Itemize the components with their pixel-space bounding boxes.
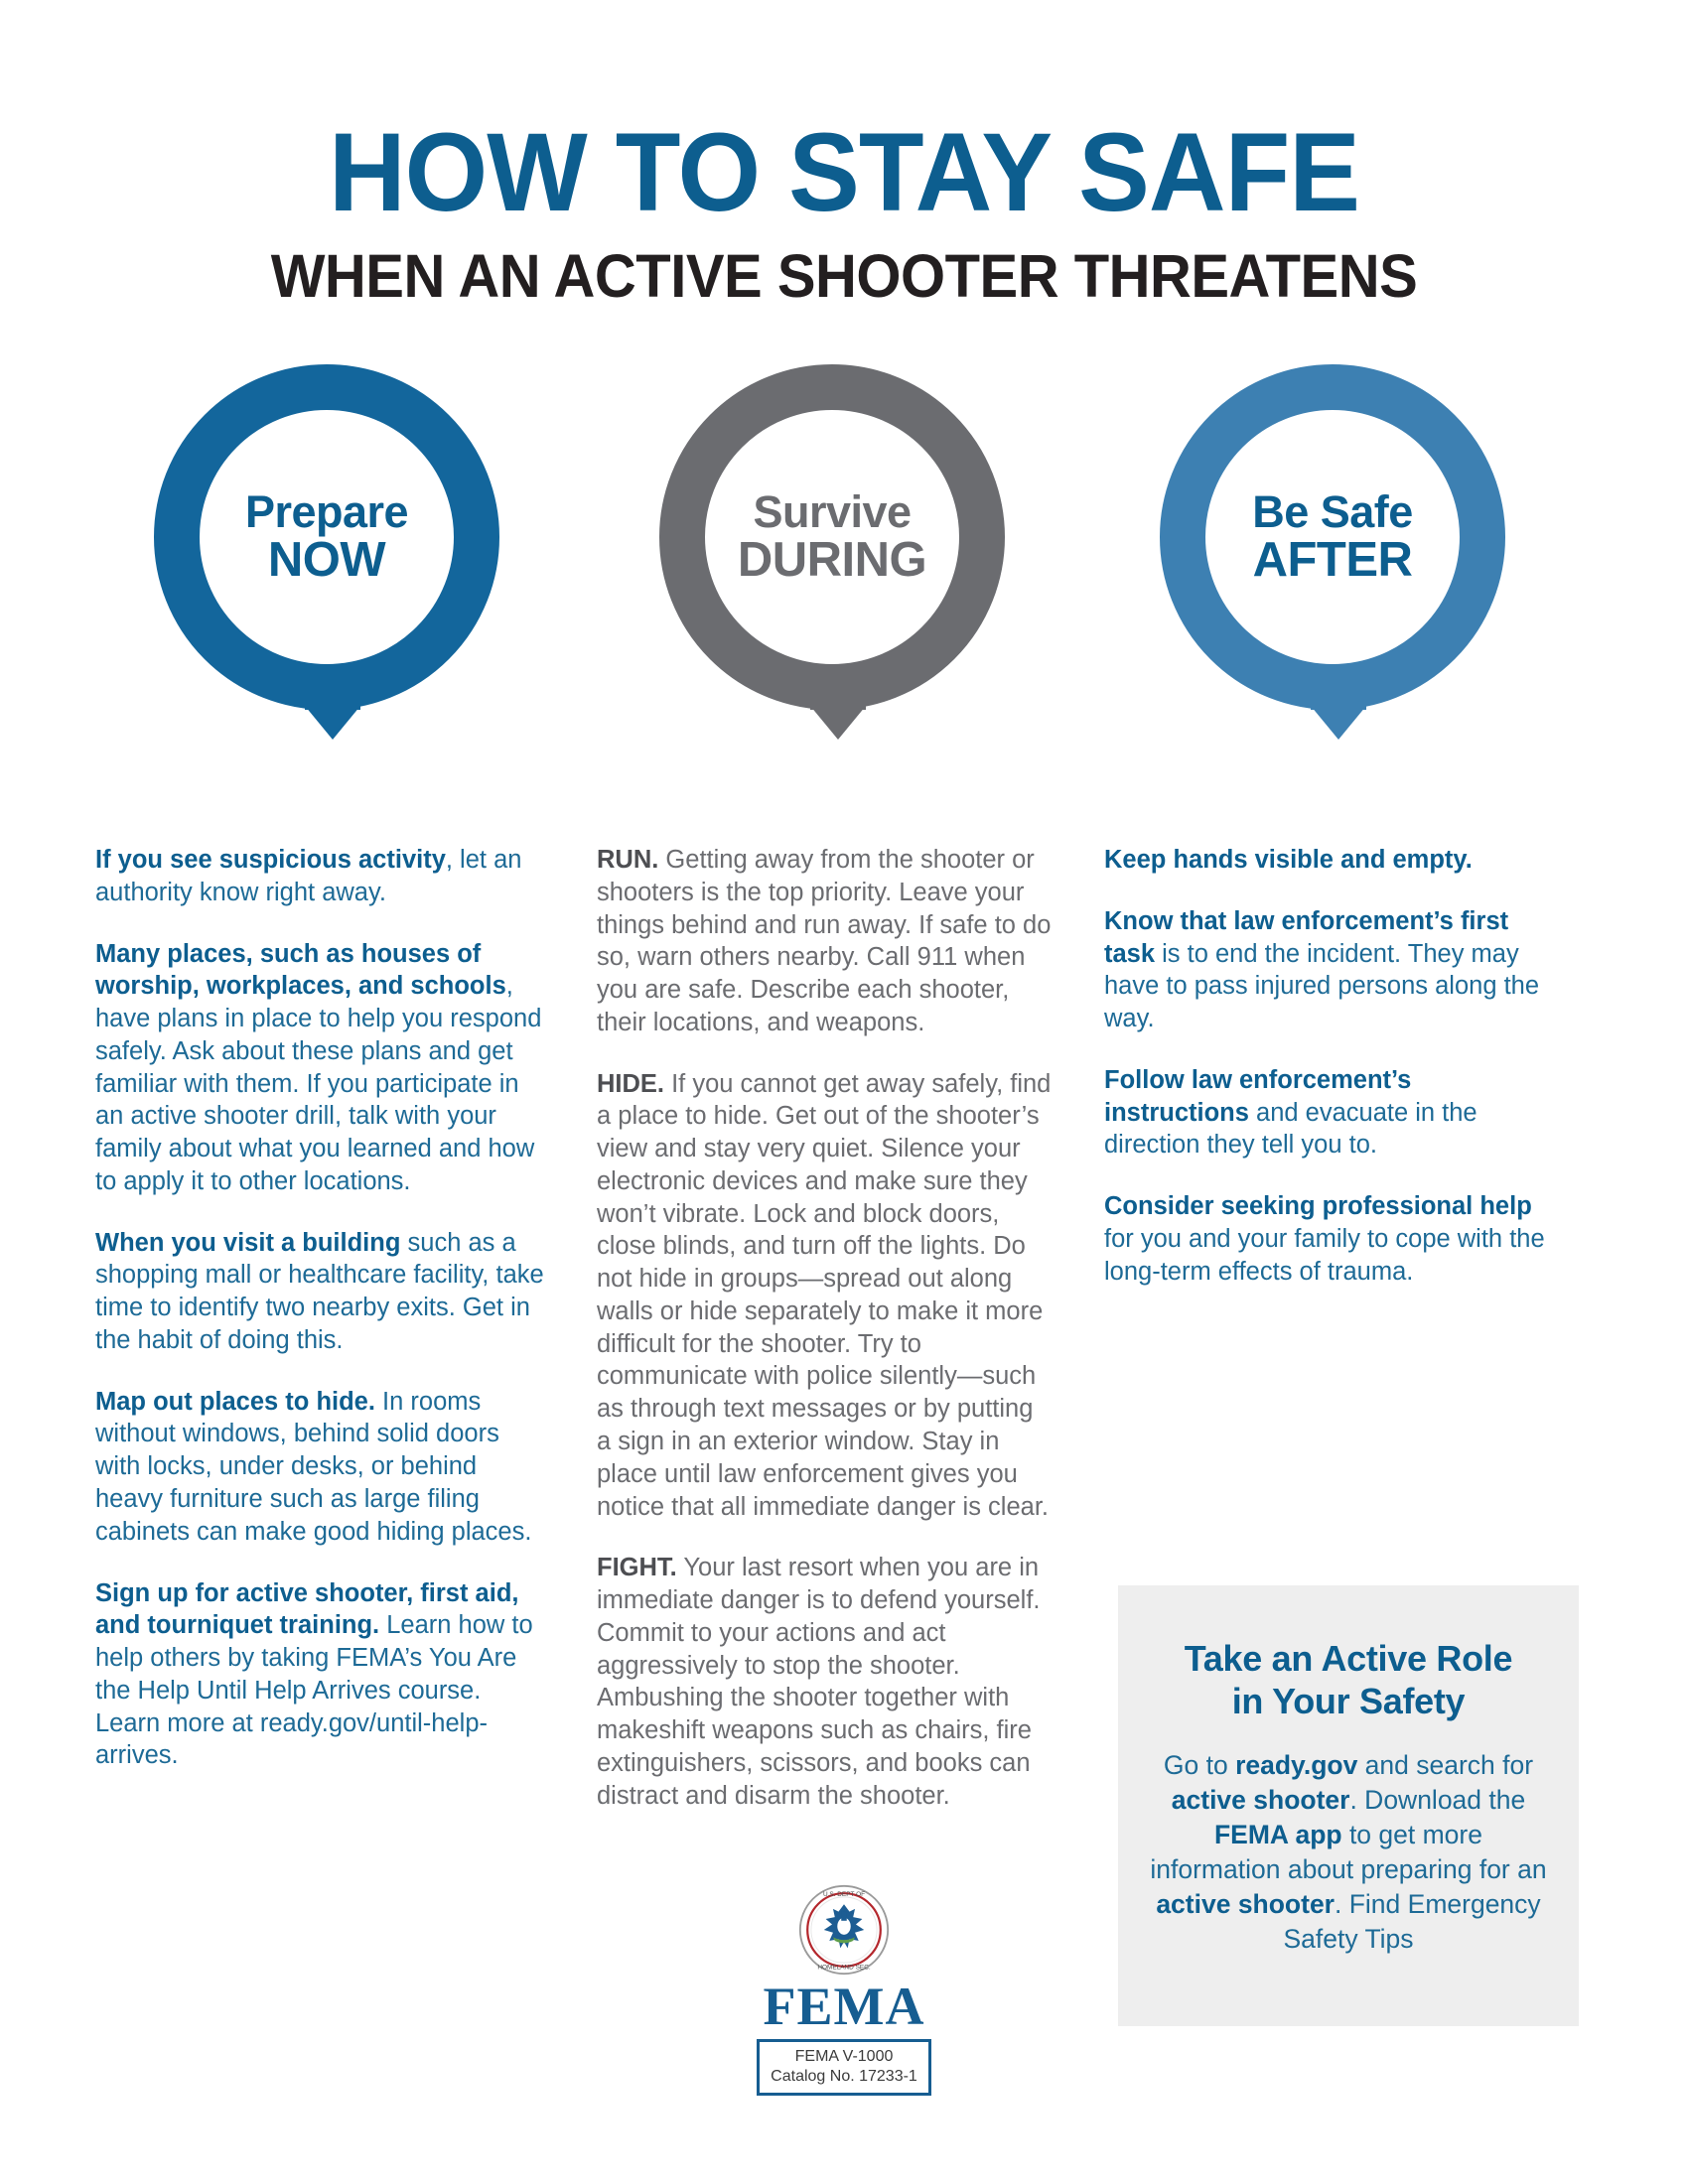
paragraph-lead: FIGHT. — [597, 1554, 677, 1581]
ring-label-be-safe-after: Be Safe AFTER — [1252, 489, 1413, 586]
arrow-down-icon-be-safe-after — [1311, 706, 1366, 740]
body-text: to get more information about preparing … — [1150, 1820, 1546, 1884]
paragraph-body: Your last resort when you are in immedia… — [597, 1554, 1041, 1809]
paragraph: RUN. Getting away from the shooter or sh… — [597, 844, 1054, 1039]
body-text: and search for — [1357, 1750, 1533, 1780]
paragraph: If you see suspicious activity, let an a… — [95, 844, 544, 909]
paragraph: When you visit a building such as a shop… — [95, 1227, 544, 1357]
callout-title-line2: in Your Safety — [1148, 1680, 1549, 1722]
paragraph-body: for you and your family to cope with the… — [1104, 1225, 1545, 1286]
paragraph-lead: RUN. — [597, 846, 658, 874]
paragraph-lead: Consider seeking professional help — [1104, 1192, 1532, 1220]
page-title: HOW TO STAY SAFE — [34, 117, 1654, 228]
paragraph: Map out places to hide. In rooms without… — [95, 1386, 544, 1549]
ring-survive-during: Survive DURING — [659, 364, 1005, 710]
callout-body: Go to ready.gov and search for active sh… — [1148, 1748, 1549, 1957]
paragraph: Follow law enforcement’s instructions an… — [1104, 1064, 1553, 1161]
body-text: . Download the — [1349, 1785, 1525, 1815]
paragraph-body: If you cannot get away safely, find a pl… — [597, 1070, 1051, 1521]
stage-circles: Prepare NOW Survive DURING Be Safe AFTER — [0, 364, 1688, 761]
svg-text:U.S. DEPT OF: U.S. DEPT OF — [823, 1891, 865, 1898]
paragraph-lead: When you visit a building — [95, 1229, 400, 1257]
svg-text:HOMELAND SEC.: HOMELAND SEC. — [817, 1965, 871, 1972]
ring-label-survive-during: Survive DURING — [738, 489, 926, 586]
paragraph: Sign up for active shooter, first aid, a… — [95, 1577, 544, 1773]
callout-title: Take an Active Role in Your Safety — [1148, 1637, 1549, 1722]
paragraph: Many places, such as houses of worship, … — [95, 938, 544, 1198]
stage-circle-survive-during: Survive DURING — [659, 364, 1017, 761]
paragraph: HIDE. If you cannot get away safely, fin… — [597, 1068, 1054, 1524]
column-survive-during: RUN. Getting away from the shooter or sh… — [597, 844, 1054, 1841]
publication-number: FEMA V-1000 — [764, 2047, 924, 2067]
fema-logo-block: U.S. DEPT OF HOMELAND SEC. FEMA FEMA V-1… — [740, 1884, 948, 2096]
ring-label-line2: NOW — [245, 535, 408, 585]
emphasis-text: FEMA app — [1214, 1820, 1342, 1849]
emphasis-text: active shooter — [1172, 1785, 1350, 1815]
catalog-number: Catalog No. 17233-1 — [764, 2067, 924, 2087]
ring-label-line1: Be Safe — [1252, 489, 1413, 535]
paragraph-body: , have plans in place to help you respon… — [95, 972, 541, 1195]
stage-circle-prepare-now: Prepare NOW — [154, 364, 511, 761]
ring-be-safe-after: Be Safe AFTER — [1160, 364, 1505, 710]
ring-label-line2: AFTER — [1252, 535, 1413, 585]
paragraph-lead: Map out places to hide. — [95, 1388, 375, 1416]
paragraph: FIGHT. Your last resort when you are in … — [597, 1552, 1054, 1812]
paragraph-lead: If you see suspicious activity — [95, 846, 446, 874]
paragraph-lead: HIDE. — [597, 1070, 664, 1098]
ring-label-line2: DURING — [738, 535, 926, 585]
paragraph-body: is to end the incident. They may have to… — [1104, 940, 1539, 1033]
paragraph: Keep hands visible and empty. — [1104, 844, 1553, 877]
column-be-safe-after: Keep hands visible and empty.Know that l… — [1104, 844, 1553, 1316]
dhs-seal-icon: U.S. DEPT OF HOMELAND SEC. — [798, 1884, 890, 1976]
ring-prepare-now: Prepare NOW — [154, 364, 499, 710]
ring-label-prepare-now: Prepare NOW — [245, 489, 408, 586]
paragraph: Consider seeking professional help for y… — [1104, 1190, 1553, 1288]
stage-circle-be-safe-after: Be Safe AFTER — [1160, 364, 1517, 761]
paragraph-body: Getting away from the shooter or shooter… — [597, 846, 1051, 1036]
body-text: Go to — [1164, 1750, 1235, 1780]
column-prepare-now: If you see suspicious activity, let an a… — [95, 844, 544, 1801]
paragraph: Know that law enforcement’s first task i… — [1104, 905, 1553, 1035]
paragraph-lead: Many places, such as houses of worship, … — [95, 940, 506, 1001]
callout-title-line1: Take an Active Role — [1148, 1637, 1549, 1680]
catalog-box: FEMA V-1000 Catalog No. 17233-1 — [757, 2039, 931, 2096]
page-subtitle: WHEN AN ACTIVE SHOOTER THREATENS — [43, 246, 1646, 307]
emphasis-text: ready.gov — [1235, 1750, 1357, 1780]
take-active-role-callout: Take an Active Role in Your Safety Go to… — [1118, 1585, 1579, 2026]
ring-label-line1: Prepare — [245, 489, 408, 535]
arrow-down-icon-prepare-now — [305, 706, 360, 740]
fema-wordmark: FEMA — [740, 1979, 948, 2033]
emphasis-text: active shooter — [1156, 1889, 1335, 1919]
poster-header: HOW TO STAY SAFE WHEN AN ACTIVE SHOOTER … — [0, 0, 1688, 307]
arrow-down-icon-survive-during — [810, 706, 866, 740]
paragraph-lead: Keep hands visible and empty. — [1104, 846, 1473, 874]
ring-label-line1: Survive — [738, 489, 926, 535]
